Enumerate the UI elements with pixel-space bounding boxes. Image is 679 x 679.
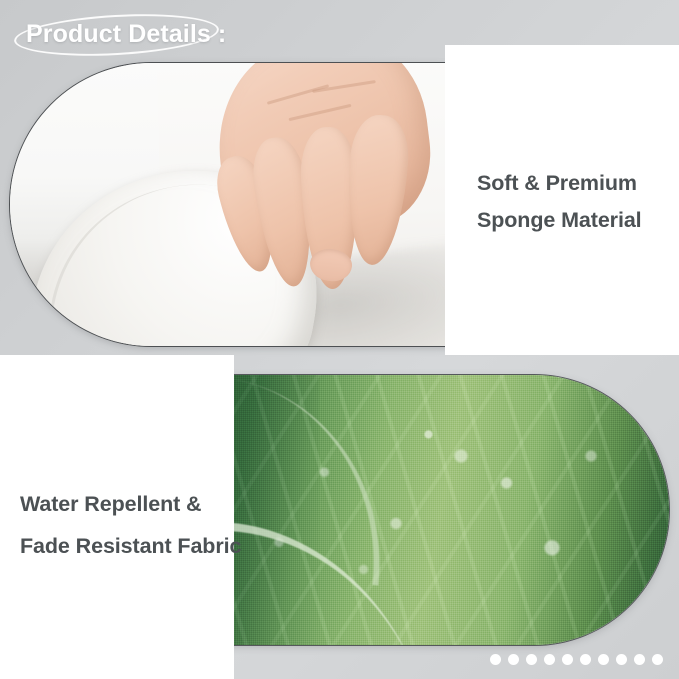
- pagination-dot: [508, 654, 519, 665]
- fabric-caption-panel: Water Repellent & Fade Resistant Fabric: [0, 355, 234, 679]
- fabric-caption-line2: Fade Resistant Fabric: [20, 525, 238, 567]
- sponge-caption: Soft & Premium Sponge Material: [477, 165, 677, 239]
- pagination-dot: [526, 654, 537, 665]
- pagination-dot: [598, 654, 609, 665]
- pagination-dot: [544, 654, 555, 665]
- fabric-caption-line1: Water Repellent &: [20, 483, 238, 525]
- sponge-caption-line2: Sponge Material: [477, 202, 677, 239]
- page-title-group: Product Details :: [14, 12, 244, 58]
- pagination-dot: [580, 654, 591, 665]
- pagination-dot: [652, 654, 663, 665]
- pagination-dot: [490, 654, 501, 665]
- pagination-dot: [634, 654, 645, 665]
- pagination-dot: [616, 654, 627, 665]
- page-title: Product Details :: [26, 17, 226, 51]
- product-details-page: Soft & Premium Sponge Material Water Rep…: [0, 0, 679, 679]
- fabric-caption: Water Repellent & Fade Resistant Fabric: [20, 483, 238, 567]
- sponge-caption-line1: Soft & Premium: [477, 165, 677, 202]
- sponge-caption-panel: Soft & Premium Sponge Material: [445, 45, 679, 355]
- pagination-dots: [490, 654, 663, 665]
- pagination-dot: [562, 654, 573, 665]
